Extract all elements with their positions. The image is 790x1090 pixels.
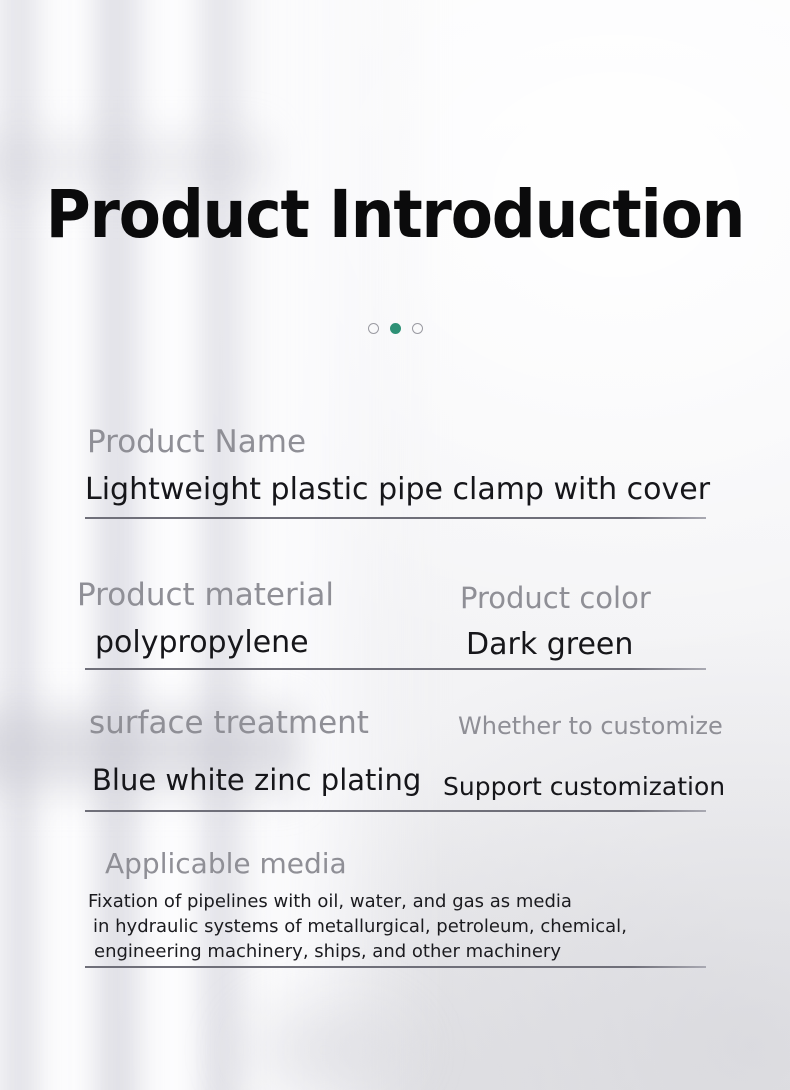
- spec-value-product-color: Dark green: [466, 627, 633, 662]
- spec-row-divider-1: [85, 517, 706, 519]
- content-layer: Product Introduction Product Name Lightw…: [0, 0, 790, 1090]
- spec-row-divider-4: [85, 966, 706, 968]
- applicable-media-line-1: Fixation of pipelines with oil, water, a…: [88, 889, 708, 914]
- spec-label-whether-to-customize: Whether to customize: [458, 712, 723, 740]
- spec-label-product-material: Product material: [77, 577, 334, 613]
- spec-row-divider-2: [85, 668, 706, 670]
- applicable-media-line-3: engineering machinery, ships, and other …: [88, 939, 708, 964]
- product-introduction-page: Product Introduction Product Name Lightw…: [0, 0, 790, 1090]
- spec-label-surface-treatment: surface treatment: [89, 705, 369, 741]
- spec-value-product-name: Lightweight plastic pipe clamp with cove…: [85, 472, 710, 507]
- spec-value-whether-to-customize: Support customization: [443, 772, 725, 801]
- spec-table: Product Name Lightweight plastic pipe cl…: [0, 0, 790, 1090]
- spec-label-product-name: Product Name: [87, 424, 306, 460]
- spec-value-product-material: polypropylene: [95, 625, 309, 660]
- spec-value-surface-treatment: Blue white zinc plating: [92, 763, 421, 797]
- spec-label-applicable-media: Applicable media: [105, 847, 347, 880]
- applicable-media-line-2: in hydraulic systems of metallurgical, p…: [88, 914, 708, 939]
- spec-label-product-color: Product color: [460, 581, 651, 615]
- spec-value-applicable-media: Fixation of pipelines with oil, water, a…: [88, 889, 708, 964]
- spec-row-divider-3: [85, 810, 706, 812]
